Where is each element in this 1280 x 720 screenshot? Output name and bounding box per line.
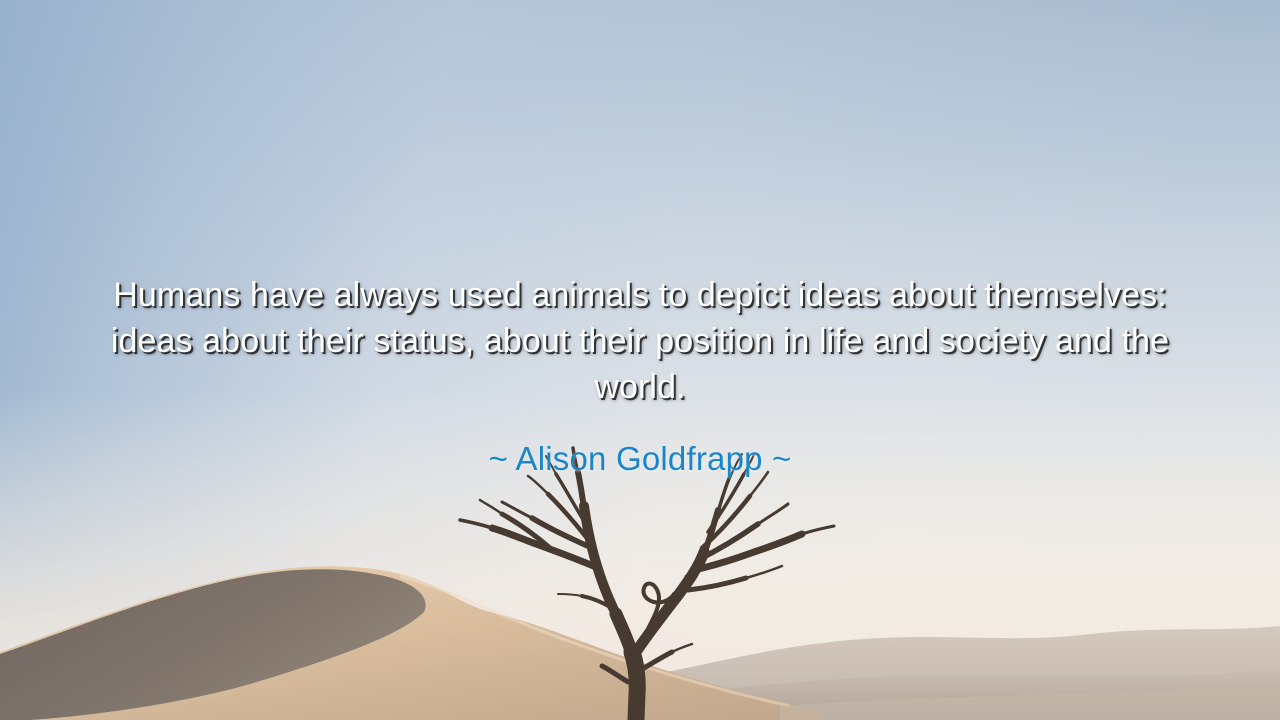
quote-overlay: Humans have always used animals to depic…: [0, 272, 1280, 480]
quote-image-canvas: Humans have always used animals to depic…: [0, 0, 1280, 720]
quote-text: Humans have always used animals to depic…: [95, 272, 1185, 410]
quote-attribution: ~ Alison Goldfrapp ~: [95, 438, 1185, 480]
tree-branches: [460, 448, 834, 720]
